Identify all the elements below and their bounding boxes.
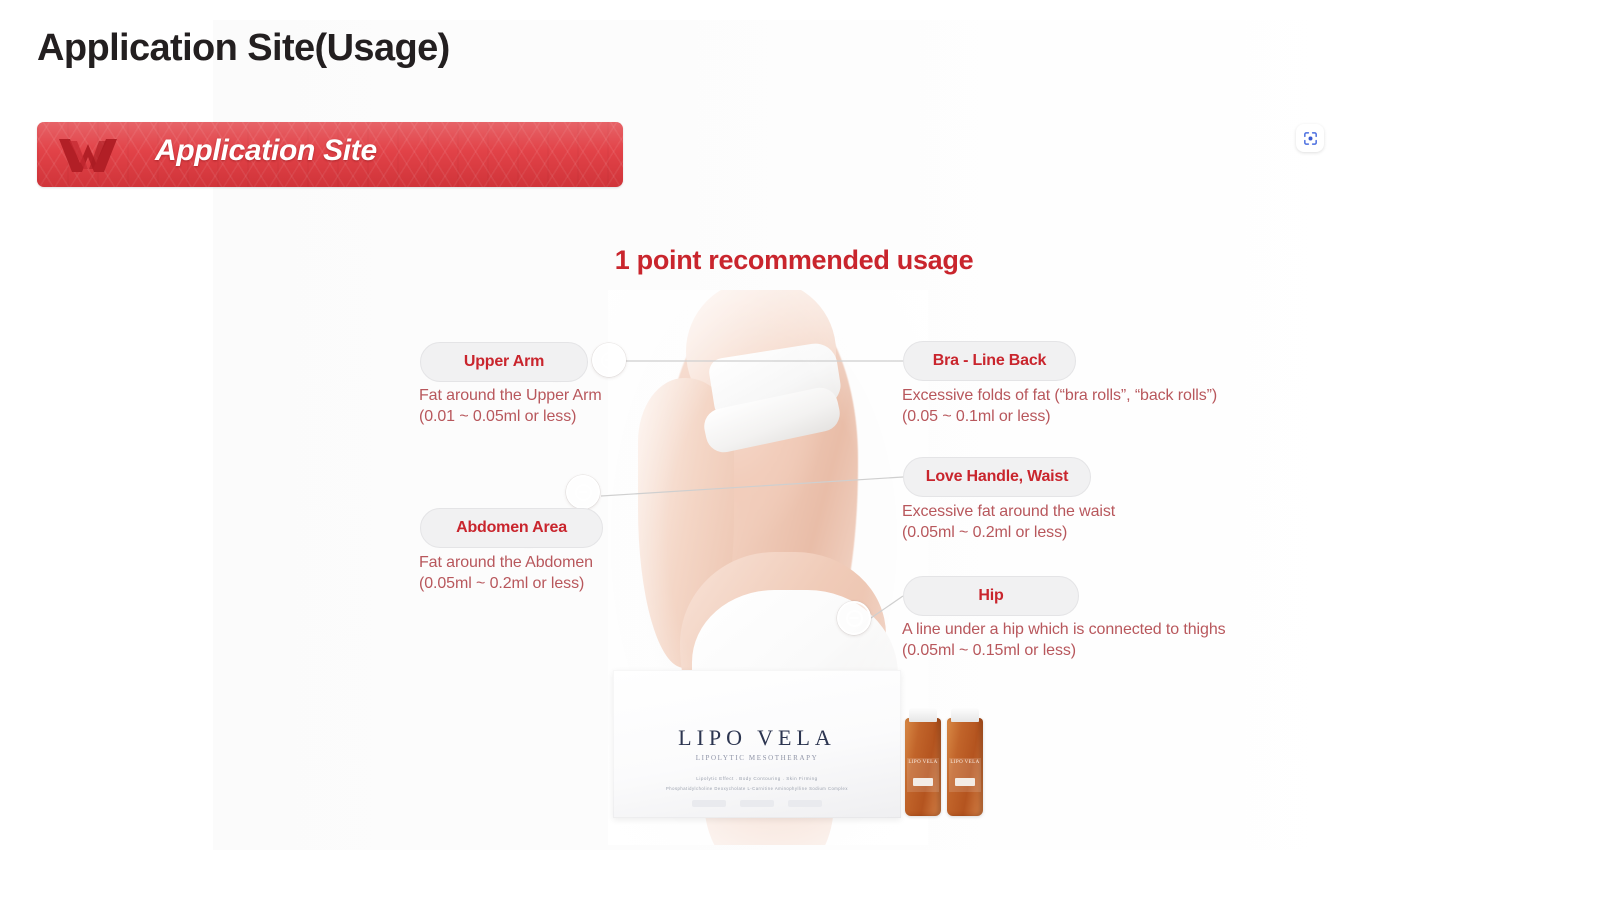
vial-label-name: LIPO VELA <box>907 760 939 765</box>
product-box-subtitle: LIPOLYTIC MESOTHERAPY <box>613 754 901 762</box>
product-vials: LIPO VELA LIPO VELA <box>905 706 991 818</box>
product-box: LIPO VELA LIPOLYTIC MESOTHERAPY Lipolyti… <box>613 670 901 818</box>
desc-abdomen-area-line1: Fat around the Abdomen <box>419 554 593 571</box>
marker-bra-line-back <box>592 343 626 377</box>
lens-scan-button[interactable] <box>1296 124 1324 152</box>
label-pill-abdomen-area: Abdomen Area <box>420 508 603 548</box>
product-box-brand: LIPO VELA <box>613 725 901 751</box>
desc-bra-line-back: Excessive folds of fat (“bra rolls”, “ba… <box>902 385 1217 427</box>
product-box-detail-line: Phosphatidylcholine Deoxycholate L-Carni… <box>613 786 901 791</box>
vial-label-name: LIPO VELA <box>949 760 981 765</box>
marker-love-handle <box>566 475 600 509</box>
vial: LIPO VELA <box>947 718 983 816</box>
badge-chip <box>740 800 774 807</box>
desc-abdomen-area: Fat around the Abdomen (0.05ml ~ 0.2ml o… <box>419 552 593 594</box>
label-abdomen-area: Abdomen Area <box>456 519 567 537</box>
product-shot: LIPO VELA LIPOLYTIC MESOTHERAPY Lipolyti… <box>613 670 913 825</box>
marker-hip <box>837 601 871 635</box>
desc-love-handle-waist-line1: Excessive fat around the waist <box>902 503 1115 520</box>
badge-chip <box>788 800 822 807</box>
vial-label: LIPO VELA <box>949 758 981 792</box>
label-pill-upper-arm: Upper Arm <box>420 342 588 382</box>
brand-w-logo-icon <box>57 135 119 175</box>
page-title: Application Site(Usage) <box>37 27 450 70</box>
desc-love-handle-waist: Excessive fat around the waist (0.05ml ~… <box>902 501 1115 543</box>
marker-glyph-icon <box>575 484 592 501</box>
desc-bra-line-back-line2: (0.05 ~ 0.1ml or less) <box>902 406 1217 427</box>
marker-glyph-icon <box>846 610 863 627</box>
desc-abdomen-area-line2: (0.05ml ~ 0.2ml or less) <box>419 573 593 594</box>
vial-label: LIPO VELA <box>907 758 939 792</box>
label-bra-line-back: Bra - Line Back <box>933 352 1047 370</box>
lens-scan-icon <box>1302 130 1319 147</box>
infographic: 1 point recommended usage <box>213 215 1375 835</box>
vial-cap <box>951 708 979 722</box>
badge-chip <box>692 800 726 807</box>
marker-glyph-icon <box>601 352 618 369</box>
desc-upper-arm-line1: Fat around the Upper Arm <box>419 387 602 404</box>
label-pill-love-handle-waist: Love Handle, Waist <box>903 457 1091 497</box>
banner-title: Application Site <box>155 134 377 168</box>
product-box-badges <box>613 800 901 807</box>
infographic-headline: 1 point recommended usage <box>213 245 1375 276</box>
desc-love-handle-waist-line2: (0.05ml ~ 0.2ml or less) <box>902 522 1115 543</box>
label-upper-arm: Upper Arm <box>464 353 544 371</box>
desc-hip-line2: (0.05ml ~ 0.15ml or less) <box>902 640 1226 661</box>
desc-hip: A line under a hip which is connected to… <box>902 619 1226 661</box>
screenshot-root: Application Site(Usage) Application Site… <box>0 0 1600 900</box>
desc-hip-line1: A line under a hip which is connected to… <box>902 621 1226 638</box>
vial: LIPO VELA <box>905 718 941 816</box>
desc-upper-arm-line2: (0.01 ~ 0.05ml or less) <box>419 406 602 427</box>
desc-upper-arm: Fat around the Upper Arm (0.01 ~ 0.05ml … <box>419 385 602 427</box>
desc-bra-line-back-line1: Excessive folds of fat (“bra rolls”, “ba… <box>902 387 1217 404</box>
vial-label-chip <box>955 778 975 786</box>
label-pill-bra-line-back: Bra - Line Back <box>903 341 1076 381</box>
product-box-feature-line: Lipolytic Effect . Body Contouring . Ski… <box>613 776 901 781</box>
label-love-handle-waist: Love Handle, Waist <box>926 468 1069 486</box>
vial-label-chip <box>913 778 933 786</box>
label-pill-hip: Hip <box>903 576 1079 616</box>
label-hip: Hip <box>978 587 1003 605</box>
vial-cap <box>909 708 937 722</box>
application-site-banner: Application Site <box>37 122 623 187</box>
